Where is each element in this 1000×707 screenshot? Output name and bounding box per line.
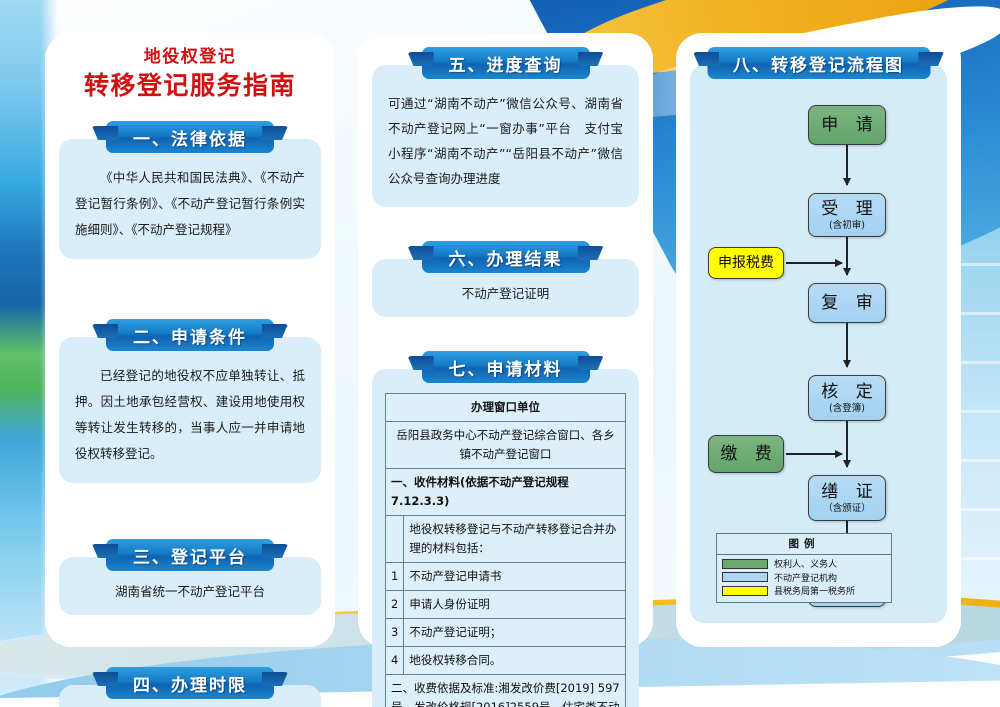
materials-item-text: 申请人身份证明 xyxy=(404,591,626,619)
flow-node-certificate: 缮 证 （含颁证） xyxy=(808,475,886,521)
flow-node-apply-label: 申 请 xyxy=(815,115,878,135)
table-row: 1 不动产登记申请书 xyxy=(386,563,626,591)
legend-swatch-blue-icon xyxy=(722,572,768,582)
materials-window-subtitle: 岳阳县政务中心不动产登记综合窗口、各乡镇不动产登记窗口 xyxy=(386,422,626,469)
table-row: 2 申请人身份证明 xyxy=(386,591,626,619)
flow-node-review-label: 复 审 xyxy=(815,293,878,313)
materials-part1-head: 一、收件材料(依据不动产登记规程7.12.3.3) xyxy=(386,469,626,516)
flow-node-approve-label: 核 定 xyxy=(815,382,878,402)
poster-title-small: 地役权登记 xyxy=(45,45,335,69)
arrow-payment-to-trunk xyxy=(786,453,842,455)
table-row: 4 地役权转移合同。 xyxy=(386,647,626,675)
flowchart-canvas: 申 请 受 理 (含初审) 申报税费 复 审 核 定 (含登簿) xyxy=(702,87,935,609)
section-text-2: 已经登记的地役权不应单独转让、抵押。因土地承包经营权、建设用地使用权等转让发生转… xyxy=(75,363,305,467)
poster-title-large: 转移登记服务指南 xyxy=(45,69,335,103)
table-row: 岳阳县政务中心不动产登记综合窗口、各乡镇不动产登记窗口 xyxy=(386,422,626,469)
poster-title: 地役权登记 转移登记服务指南 xyxy=(45,33,335,103)
flow-node-accept: 受 理 (含初审) xyxy=(808,193,886,237)
section-text-1: 《中华人民共和国民法典》、《不动产登记暂行条例》、《不动产登记暂行条例实施细则》… xyxy=(75,165,305,243)
flow-node-declare-tax: 申报税费 xyxy=(708,247,784,279)
legend-item: 不动产登记机构 xyxy=(722,571,886,583)
materials-part1-lead: 地役权转移登记与不动产转移登记合并办理的材料包括： xyxy=(404,516,626,563)
section-text-5: 可通过“湖南不动产”微信公众号、湖南省不动产登记网上“一窗办事”平台 支付宝小程… xyxy=(388,91,623,191)
section-body-5: 可通过“湖南不动产”微信公众号、湖南省不动产登记网上“一窗办事”平台 支付宝小程… xyxy=(372,65,639,207)
banner-wrap-4: 四、办理时限 xyxy=(59,667,321,701)
legend-label-green: 权利人、义务人 xyxy=(774,557,837,570)
flow-node-accept-label: 受 理 xyxy=(815,199,878,219)
section-body-2: 已经登记的地役权不应单独转让、抵押。因土地承包经营权、建设用地使用权等转让发生转… xyxy=(59,337,321,483)
panel-middle: 五、进度查询 可通过“湖南不动产”微信公众号、湖南省不动产登记网上“一窗办事”平… xyxy=(358,33,653,647)
section-progress-query: 五、进度查询 可通过“湖南不动产”微信公众号、湖南省不动产登记网上“一窗办事”平… xyxy=(372,47,639,207)
flowchart-legend: 图例 权利人、义务人 不动产登记机构 xyxy=(716,533,892,604)
poster-root: 地役权登记 转移登记服务指南 一、法律依据 《中华人民共和国民法典》、《不动产登… xyxy=(0,0,1000,707)
section-banner-8: 八、转移登记流程图 xyxy=(707,47,930,79)
flow-node-apply: 申 请 xyxy=(808,105,886,145)
section-text-6: 不动产登记证明 xyxy=(386,283,625,305)
section-text-3: 湖南省统一不动产登记平台 xyxy=(73,581,307,603)
section-banner-2: 二、申请条件 xyxy=(106,319,274,351)
flow-node-declare-tax-label: 申报税费 xyxy=(718,253,774,273)
flow-node-review: 复 审 xyxy=(808,283,886,323)
banner-wrap-7: 七、申请材料 xyxy=(372,351,639,385)
panel-right: 八、转移登记流程图 申 请 受 xyxy=(676,33,961,647)
materials-card: 办理窗口单位 岳阳县政务中心不动产登记综合窗口、各乡镇不动产登记窗口 一、收件材… xyxy=(372,369,639,707)
table-row: 一、收件材料(依据不动产登记规程7.12.3.3) xyxy=(386,469,626,516)
legend-swatch-green-icon xyxy=(722,559,768,569)
materials-item-number: 4 xyxy=(386,647,404,675)
arrow-apply-to-accept xyxy=(846,145,848,185)
materials-item-text: 地役权转移合同。 xyxy=(404,647,626,675)
section-result: 六、办理结果 不动产登记证明 xyxy=(372,241,639,317)
section-banner-7: 七、申请材料 xyxy=(422,351,590,383)
legend-item: 权利人、义务人 xyxy=(722,558,886,570)
table-row: 3 不动产登记证明； xyxy=(386,619,626,647)
flow-node-payment: 缴 费 xyxy=(708,435,784,473)
materials-item-number: 3 xyxy=(386,619,404,647)
banner-wrap-1: 一、法律依据 xyxy=(59,121,321,155)
flowchart-card: 申 请 受 理 (含初审) 申报税费 复 审 核 定 (含登簿) xyxy=(690,65,947,623)
flow-node-payment-label: 缴 费 xyxy=(714,444,777,464)
flow-node-approve: 核 定 (含登簿) xyxy=(808,375,886,421)
materials-part2-fees: 二、收费依据及标准:湘发改价费[2019] 597号、发改价格规[2016]25… xyxy=(386,675,626,707)
section-flowchart: 八、转移登记流程图 申 请 受 xyxy=(690,47,947,623)
section-body-1: 《中华人民共和国民法典》、《不动产登记暂行条例》、《不动产登记暂行条例实施细则》… xyxy=(59,139,321,259)
section-apply-conditions: 二、申请条件 已经登记的地役权不应单独转让、抵押。因土地承包经营权、建设用地使用… xyxy=(59,319,321,483)
materials-item-text: 不动产登记申请书 xyxy=(404,563,626,591)
arrow-accept-to-review xyxy=(846,237,848,275)
legend-label-blue: 不动产登记机构 xyxy=(774,571,837,584)
section-processing-time: 四、办理时限 1个工作日 xyxy=(59,667,321,707)
table-row: 二、收费依据及标准:湘发改价费[2019] 597号、发改价格规[2016]25… xyxy=(386,675,626,707)
banner-wrap-3: 三、登记平台 xyxy=(59,539,321,573)
table-row: 地役权转移登记与不动产转移登记合并办理的材料包括： xyxy=(386,516,626,563)
table-row: 办理窗口单位 xyxy=(386,394,626,422)
arrow-tax-to-trunk xyxy=(786,262,842,264)
section-application-materials: 七、申请材料 办理窗口单位 岳阳县政务中心不动产登记综合窗口、各乡镇不动产登记窗… xyxy=(372,351,639,707)
banner-wrap-2: 二、申请条件 xyxy=(59,319,321,353)
banner-wrap-5: 五、进度查询 xyxy=(372,47,639,81)
materials-window-title: 办理窗口单位 xyxy=(386,394,626,422)
legend-rows: 权利人、义务人 不动产登记机构 县税务局第一税务所 xyxy=(717,555,891,603)
banner-wrap-6: 六、办理结果 xyxy=(372,241,639,275)
section-banner-1: 一、法律依据 xyxy=(106,121,274,153)
banner-wrap-8: 八、转移登记流程图 xyxy=(690,47,947,81)
materials-table: 办理窗口单位 岳阳县政务中心不动产登记综合窗口、各乡镇不动产登记窗口 一、收件材… xyxy=(385,393,626,707)
section-banner-4: 四、办理时限 xyxy=(106,667,274,699)
legend-title: 图例 xyxy=(717,534,891,555)
section-banner-3: 三、登记平台 xyxy=(106,539,274,571)
legend-item: 县税务局第一税务所 xyxy=(722,585,886,597)
section-banner-5: 五、进度查询 xyxy=(422,47,590,79)
materials-item-text: 不动产登记证明； xyxy=(404,619,626,647)
flow-node-certificate-sub: （含颁证） xyxy=(823,503,871,515)
flow-node-accept-sub: (含初审) xyxy=(829,220,865,232)
materials-item-number: 1 xyxy=(386,563,404,591)
flow-node-certificate-label: 缮 证 xyxy=(815,482,878,502)
arrow-review-to-approve xyxy=(846,323,848,367)
legend-label-yellow: 县税务局第一税务所 xyxy=(774,584,855,597)
panel-left: 地役权登记 转移登记服务指南 一、法律依据 《中华人民共和国民法典》、《不动产登… xyxy=(45,33,335,647)
materials-item-number: 2 xyxy=(386,591,404,619)
materials-lead-num xyxy=(386,516,404,563)
section-legal-basis: 一、法律依据 《中华人民共和国民法典》、《不动产登记暂行条例》、《不动产登记暂行… xyxy=(59,121,321,259)
arrow-approve-to-cert xyxy=(846,421,848,467)
flow-node-approve-sub: (含登簿) xyxy=(829,403,865,415)
section-registration-platform: 三、登记平台 湖南省统一不动产登记平台 xyxy=(59,539,321,615)
section-banner-6: 六、办理结果 xyxy=(422,241,590,273)
legend-swatch-yellow-icon xyxy=(722,586,768,596)
